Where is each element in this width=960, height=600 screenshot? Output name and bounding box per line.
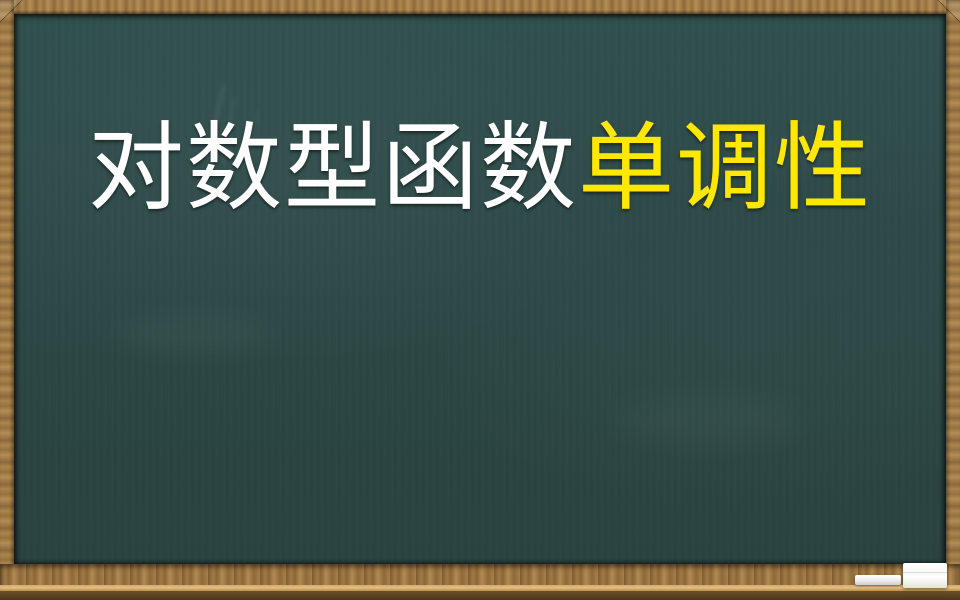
chalkboard-surface [14, 14, 946, 565]
frame-left-rail [0, 0, 14, 600]
chalk-smudge [114, 314, 274, 354]
board-eraser[interactable] [903, 563, 947, 588]
chalk-smudge [614, 394, 804, 444]
ledge-shadow-strip [0, 591, 960, 600]
lesson-title: 对数型函数单调性 [88, 112, 872, 224]
frame-right-rail [946, 0, 960, 600]
chalk-tray [0, 564, 960, 600]
title-segment-primary: 对数型函数 [88, 112, 578, 224]
frame-top-rail [0, 0, 960, 14]
chalk-stick[interactable] [855, 575, 901, 585]
chalkboard-slide: 对数型函数单调性 [0, 0, 960, 600]
title-block: 对数型函数单调性 [14, 120, 946, 216]
title-segment-highlight: 单调性 [578, 112, 872, 224]
